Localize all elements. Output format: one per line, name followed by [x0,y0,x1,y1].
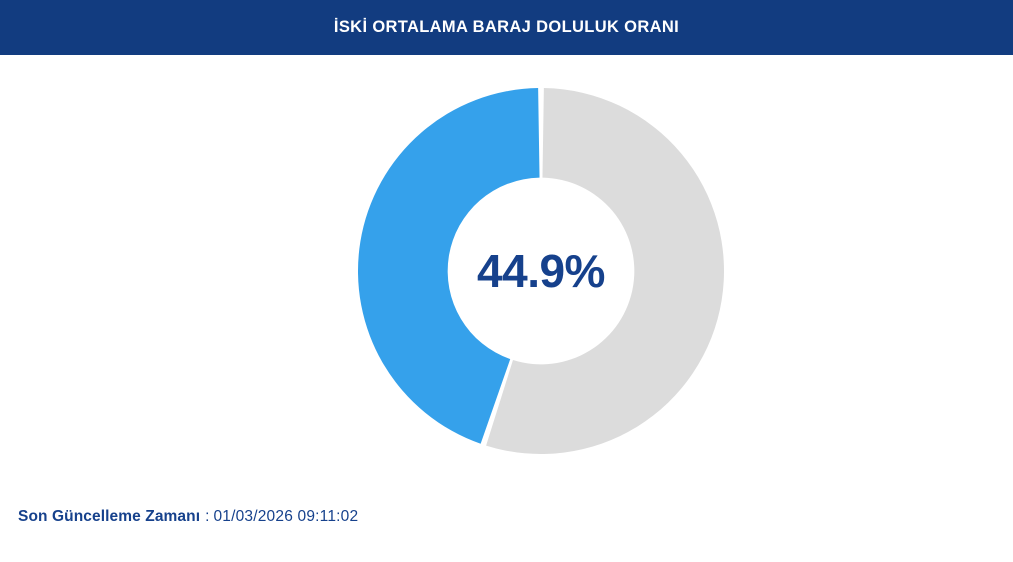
last-update-value: 01/03/2026 09:11:02 [213,508,358,526]
last-update-label: Son Güncelleme Zamanı [18,508,200,526]
donut-chart-svg [358,86,724,456]
donut-chart: 44.9% [358,86,724,456]
last-update-separator: : [200,508,213,526]
page-header: İSKİ ORTALAMA BARAJ DOLULUK ORANI [0,0,1013,55]
page-title: İSKİ ORTALAMA BARAJ DOLULUK ORANI [334,19,679,36]
last-update-row: Son Güncelleme Zamanı : 01/03/2026 09:11… [18,508,358,526]
chart-area: 44.9% [0,55,1013,485]
